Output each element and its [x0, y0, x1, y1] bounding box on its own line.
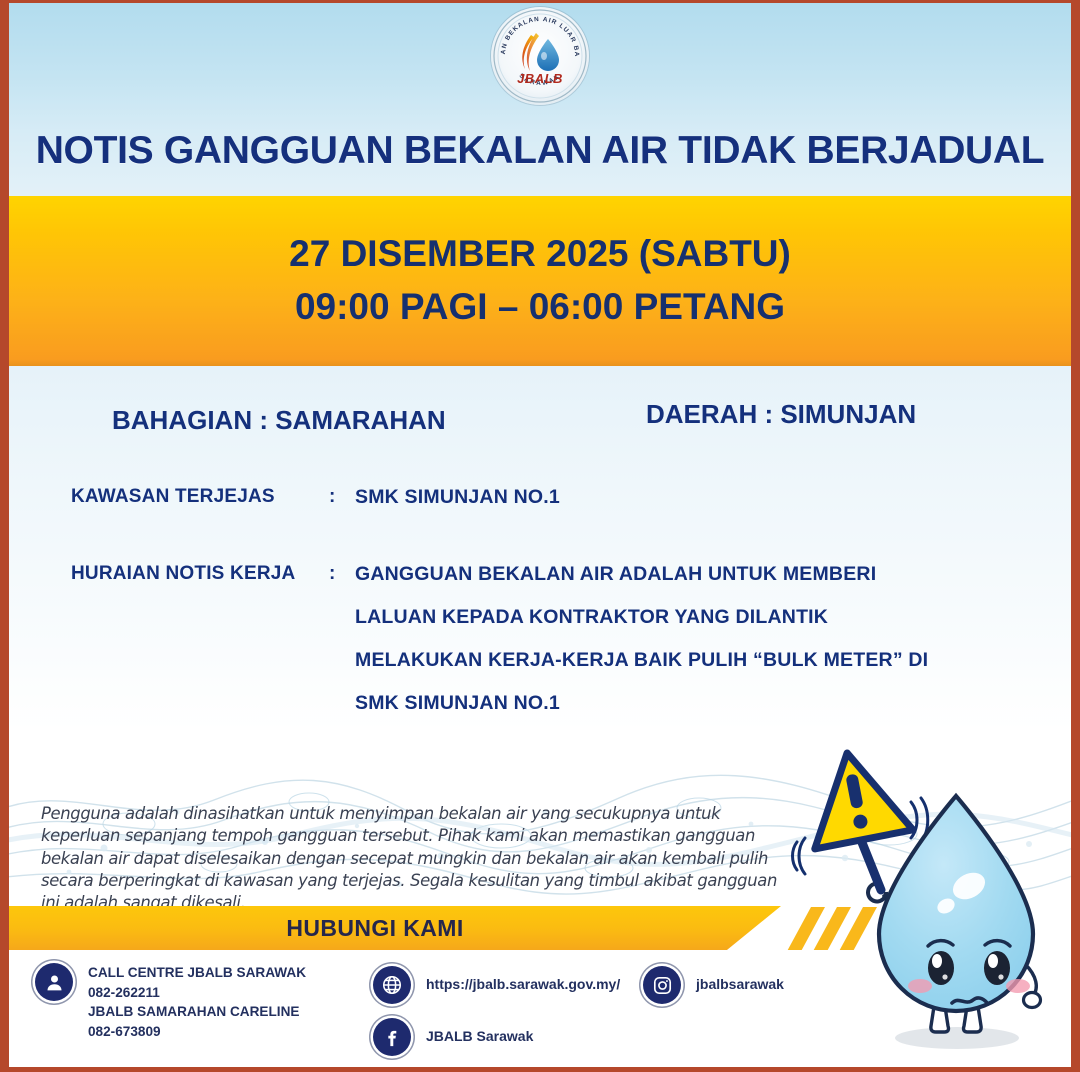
work-description-line-2: LALUAN KEPADA KONTRAKTOR YANG DILANTIK — [355, 606, 828, 629]
careline-name: JBALB SAMARAHAN CARELINE — [88, 1002, 306, 1022]
website-url[interactable]: https://jbalb.sarawak.gov.my/ — [426, 976, 620, 992]
region-row: BAHAGIAN : SAMARAHAN DAERAH : SIMUNJAN — [9, 399, 1071, 443]
disruption-date: 27 DISEMBER 2025 (SABTU) — [289, 228, 791, 281]
district-label: DAERAH : SIMUNJAN — [646, 399, 916, 430]
facebook-name[interactable]: JBALB Sarawak — [426, 1028, 533, 1044]
globe-icon — [373, 966, 411, 1004]
work-description-label: HURAIAN NOTIS KERJA — [71, 563, 295, 585]
call-centre-contact[interactable]: CALL CENTRE JBALB SARAWAK 082-262211 JBA… — [35, 963, 306, 1042]
work-description-line-3: MELAKUKAN KERJA-KERJA BAIK PULIH “BULK M… — [355, 649, 928, 672]
instagram-icon — [643, 966, 681, 1004]
affected-area-colon: : — [329, 486, 335, 508]
website-contact[interactable]: https://jbalb.sarawak.gov.my/ — [373, 966, 620, 1004]
facebook-contact[interactable]: JBALB Sarawak — [373, 1018, 533, 1056]
disruption-time: 09:00 PAGI – 06:00 PETANG — [295, 281, 785, 334]
work-description-line-4: SMK SIMUNJAN NO.1 — [355, 692, 560, 715]
contact-band-title: HUBUNGI KAMI — [286, 915, 463, 942]
careline-phone: 082-673809 — [88, 1022, 306, 1042]
sad-water-drop-mascot — [789, 738, 1080, 1068]
instagram-contact[interactable]: jbalbsarawak — [643, 966, 784, 1004]
advisory-paragraph: Pengguna adalah dinasihatkan untuk menyi… — [41, 803, 779, 915]
instagram-handle[interactable]: jbalbsarawak — [696, 976, 784, 992]
division-label: BAHAGIAN : SAMARAHAN — [112, 405, 446, 436]
header-band: JABATAN BEKALAN AIR LUAR BANDAR SARAWAK … — [9, 3, 1071, 196]
jbalb-logo: JABATAN BEKALAN AIR LUAR BANDAR SARAWAK … — [491, 7, 589, 105]
person-icon — [35, 963, 73, 1001]
svg-text:JBALB: JBALB — [517, 71, 563, 86]
page-title: NOTIS GANGGUAN BEKALAN AIR TIDAK BERJADU… — [9, 129, 1071, 173]
call-centre-name: CALL CENTRE JBALB SARAWAK — [88, 963, 306, 983]
work-description-colon: : — [329, 563, 335, 585]
call-centre-text: CALL CENTRE JBALB SARAWAK 082-262211 JBA… — [88, 963, 306, 1042]
facebook-icon — [373, 1018, 411, 1056]
work-description-line-1: GANGGUAN BEKALAN AIR ADALAH UNTUK MEMBER… — [355, 563, 876, 586]
contact-band: HUBUNGI KAMI — [9, 906, 781, 950]
water-disruption-notice-poster: JABATAN BEKALAN AIR LUAR BANDAR SARAWAK … — [0, 0, 1080, 1072]
date-time-band: 27 DISEMBER 2025 (SABTU) 09:00 PAGI – 06… — [9, 196, 1071, 366]
affected-area-label: KAWASAN TERJEJAS — [71, 486, 275, 508]
call-centre-phone: 082-262211 — [88, 983, 306, 1003]
affected-area-value: SMK SIMUNJAN NO.1 — [355, 486, 560, 509]
logo-container: JABATAN BEKALAN AIR LUAR BANDAR SARAWAK … — [9, 7, 1071, 105]
